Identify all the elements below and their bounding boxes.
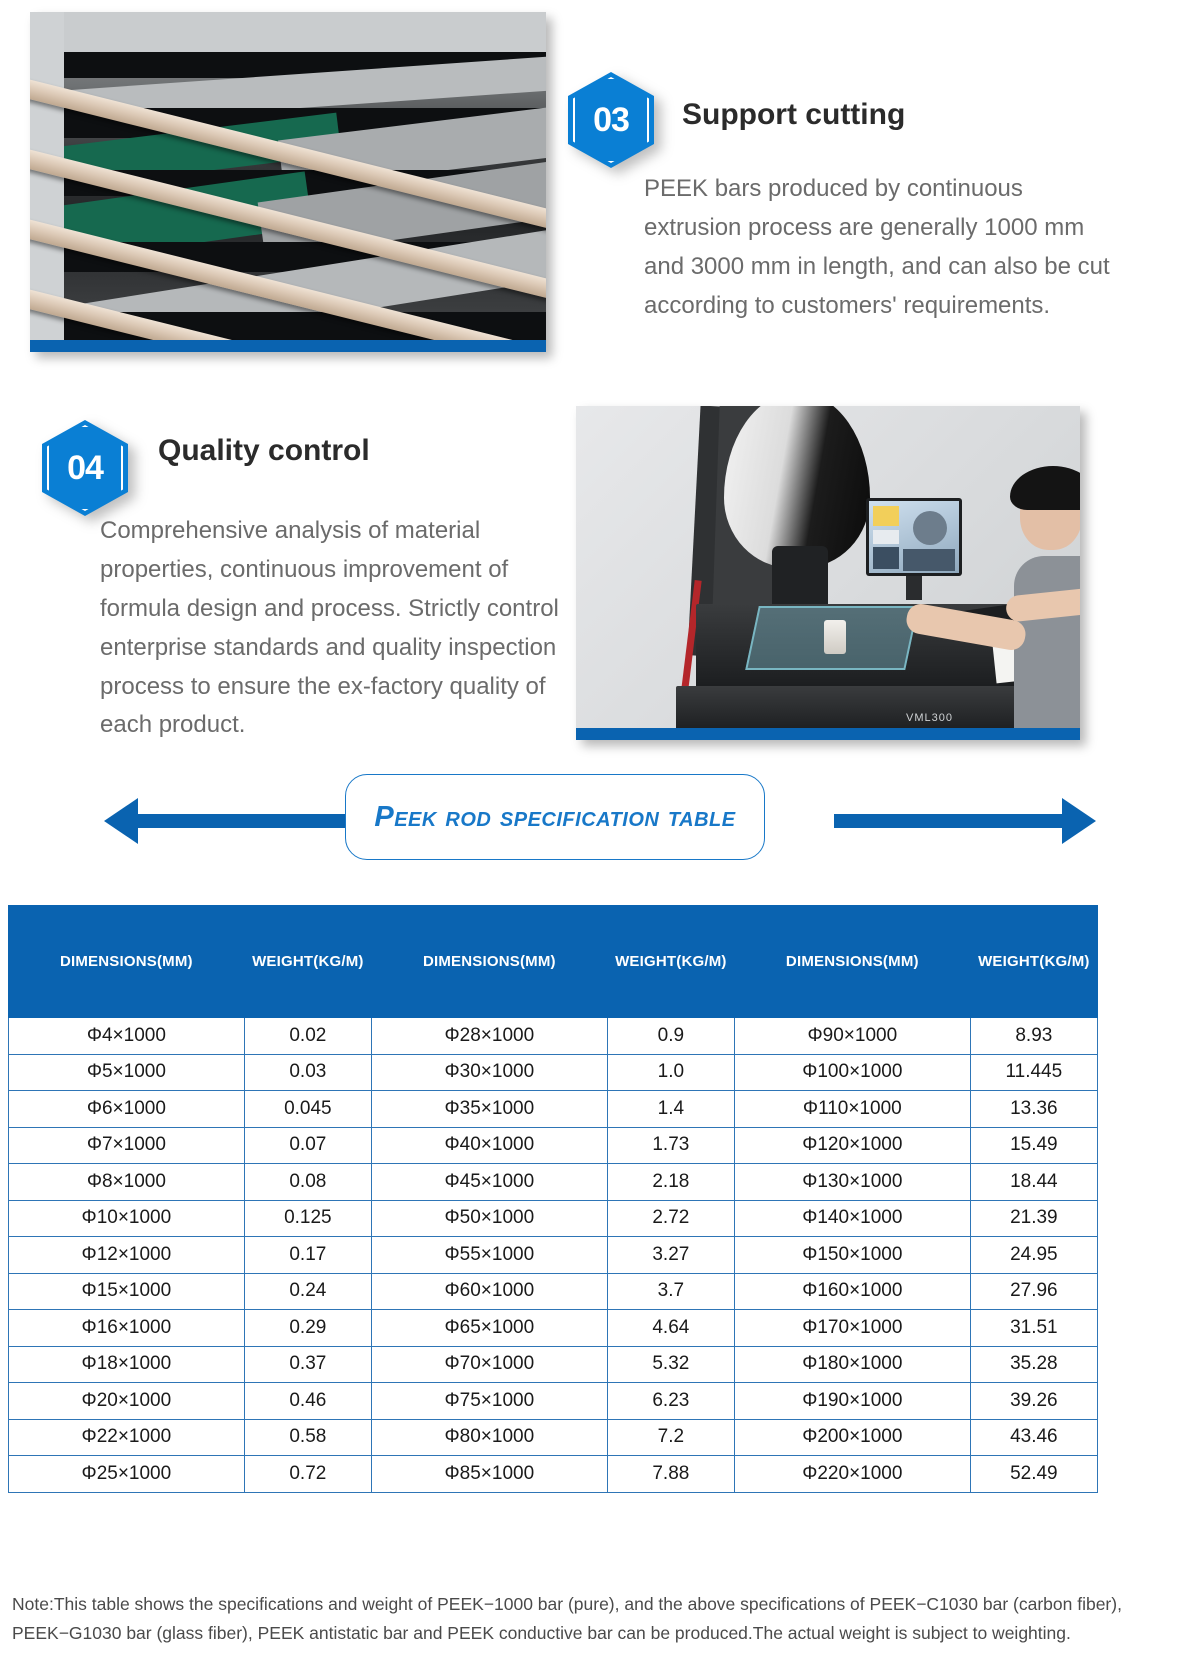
table-cell: Φ12×1000 [9,1237,245,1274]
banner-title: Peek rod specification table [374,801,735,834]
table-cell: Φ85×1000 [371,1456,607,1493]
table-cell: 0.37 [244,1346,371,1383]
column-header-dimensions-1: DIMENSIONS(MM) [9,906,245,1018]
arrow-shaft-right [834,814,1064,828]
table-cell: 31.51 [970,1310,1097,1347]
photo-peek-rods-cutting [30,12,546,352]
table-cell: Φ50×1000 [371,1200,607,1237]
table-cell: Φ170×1000 [734,1310,970,1347]
table-cell: 0.17 [244,1237,371,1274]
operator-body [1014,556,1080,740]
table-cell: 8.93 [970,1018,1097,1055]
table-cell: Φ80×1000 [371,1419,607,1456]
table-cell: Φ40×1000 [371,1127,607,1164]
table-cell: 1.73 [607,1127,734,1164]
table-cell: 27.96 [970,1273,1097,1310]
table-cell: 0.46 [244,1383,371,1420]
table-row: Φ4×10000.02Φ28×10000.9Φ90×10008.93 [9,1018,1098,1055]
sample-part [824,620,846,654]
step-body-support-cutting: PEEK bars produced by continuous extrusi… [644,170,1114,326]
table-cell: 0.58 [244,1419,371,1456]
table-row: Φ22×10000.58Φ80×10007.2Φ200×100043.46 [9,1419,1098,1456]
table-cell: Φ60×1000 [371,1273,607,1310]
table-row: Φ6×10000.045Φ35×10001.4Φ110×100013.36 [9,1091,1098,1128]
table-cell: 15.49 [970,1127,1097,1164]
step-title-support-cutting: Support cutting [682,98,905,132]
table-row: Φ20×10000.46Φ75×10006.23Φ190×100039.26 [9,1383,1098,1420]
banner-title-box: Peek rod specification table [345,774,765,860]
table-cell: Φ160×1000 [734,1273,970,1310]
table-cell: Φ10×1000 [9,1200,245,1237]
table-cell: 3.27 [607,1237,734,1274]
table-cell: Φ200×1000 [734,1419,970,1456]
table-cell: Φ150×1000 [734,1237,970,1274]
column-header-weight-3: WEIGHT(KG/M) [970,906,1097,1018]
machine-model-label: VML300 [906,712,953,724]
table-row: Φ5×10000.03Φ30×10001.0Φ100×100011.445 [9,1054,1098,1091]
table-cell: 21.39 [970,1200,1097,1237]
table-cell: 24.95 [970,1237,1097,1274]
column-header-weight-1: WEIGHT(KG/M) [244,906,371,1018]
table-cell: Φ5×1000 [9,1054,245,1091]
table-cell: Φ8×1000 [9,1164,245,1201]
table-row: Φ8×10000.08Φ45×10002.18Φ130×100018.44 [9,1164,1098,1201]
product-spec-page: 03 Support cutting PEEK bars produced by… [0,0,1200,1668]
monitor-stand [906,576,922,600]
table-cell: 7.2 [607,1419,734,1456]
table-cell: Φ55×1000 [371,1237,607,1274]
table-row: Φ7×10000.07Φ40×10001.73Φ120×100015.49 [9,1127,1098,1164]
table-cell: Φ45×1000 [371,1164,607,1201]
table-cell: Φ6×1000 [9,1091,245,1128]
table-cell: Φ30×1000 [371,1054,607,1091]
table-cell: Φ110×1000 [734,1091,970,1128]
column-header-weight-2: WEIGHT(KG/M) [607,906,734,1018]
table-cell: Φ20×1000 [9,1383,245,1420]
step-number-03: 03 [568,72,654,168]
table-cell: Φ25×1000 [9,1456,245,1493]
column-header-dimensions-2: DIMENSIONS(MM) [371,906,607,1018]
arrow-shaft-left [136,814,366,828]
table-cell: 52.49 [970,1456,1097,1493]
table-cell: 2.72 [607,1200,734,1237]
table-cell: 0.02 [244,1018,371,1055]
table-cell: 5.32 [607,1346,734,1383]
table-cell: Φ100×1000 [734,1054,970,1091]
table-cell: Φ90×1000 [734,1018,970,1055]
table-cell: Φ15×1000 [9,1273,245,1310]
computer-monitor [866,498,962,576]
table-cell: 11.445 [970,1054,1097,1091]
table-cell: 0.07 [244,1127,371,1164]
table-cell: Φ140×1000 [734,1200,970,1237]
table-cell: 0.9 [607,1018,734,1055]
table-cell: 3.7 [607,1273,734,1310]
table-cell: Φ16×1000 [9,1310,245,1347]
arrow-head-left-icon [104,798,138,844]
table-cell: 1.4 [607,1091,734,1128]
table-footnote: Note:This table shows the specifications… [12,1590,1192,1648]
arrow-head-right-icon [1062,798,1096,844]
photo-bottom-bar [30,340,546,352]
table-cell: 7.88 [607,1456,734,1493]
conveyor-machine [30,12,546,352]
table-cell: Φ120×1000 [734,1127,970,1164]
table-cell: 1.0 [607,1054,734,1091]
table-cell: 6.23 [607,1383,734,1420]
table-row: Φ16×10000.29Φ65×10004.64Φ170×100031.51 [9,1310,1098,1347]
step-number-badge-03: 03 [568,72,654,168]
table-cell: Φ18×1000 [9,1346,245,1383]
table-cell: Φ130×1000 [734,1164,970,1201]
table-cell: 4.64 [607,1310,734,1347]
table-cell: Φ65×1000 [371,1310,607,1347]
table-cell: Φ75×1000 [371,1383,607,1420]
table-cell: 0.24 [244,1273,371,1310]
table-cell: Φ180×1000 [734,1346,970,1383]
table-cell: Φ22×1000 [9,1419,245,1456]
step-number-04: 04 [42,420,128,516]
table-header-row: DIMENSIONS(MM) WEIGHT(KG/M) DIMENSIONS(M… [9,906,1098,1018]
table-cell: Φ220×1000 [734,1456,970,1493]
table-cell: 0.045 [244,1091,371,1128]
photo-quality-inspection: VML300 [576,406,1080,740]
table-row: Φ18×10000.37Φ70×10005.32Φ180×100035.28 [9,1346,1098,1383]
step-number-badge-04: 04 [42,420,128,516]
step-body-quality-control: Comprehensive analysis of material prope… [100,512,562,745]
table-row: Φ10×10000.125Φ50×10002.72Φ140×100021.39 [9,1200,1098,1237]
optical-head [724,406,870,568]
table-cell: Φ4×1000 [9,1018,245,1055]
table-cell: Φ190×1000 [734,1383,970,1420]
monitor-screen [869,501,959,573]
table-cell: 0.08 [244,1164,371,1201]
peek-rod-specification-table: DIMENSIONS(MM) WEIGHT(KG/M) DIMENSIONS(M… [8,905,1098,1493]
table-cell: Φ28×1000 [371,1018,607,1055]
step-title-quality-control: Quality control [158,434,370,468]
table-cell: 0.72 [244,1456,371,1493]
table-cell: 43.46 [970,1419,1097,1456]
table-row: Φ25×10000.72Φ85×10007.88Φ220×100052.49 [9,1456,1098,1493]
table-cell: 39.26 [970,1383,1097,1420]
table-cell: 18.44 [970,1164,1097,1201]
table-cell: 0.03 [244,1054,371,1091]
table-cell: 35.28 [970,1346,1097,1383]
photo-bottom-bar [576,728,1080,740]
table-cell: 0.125 [244,1200,371,1237]
table-cell: Φ35×1000 [371,1091,607,1128]
table-cell: Φ70×1000 [371,1346,607,1383]
table-cell: 0.29 [244,1310,371,1347]
column-header-dimensions-3: DIMENSIONS(MM) [734,906,970,1018]
table-cell: 13.36 [970,1091,1097,1128]
table-cell: Φ7×1000 [9,1127,245,1164]
table-row: Φ12×10000.17Φ55×10003.27Φ150×100024.95 [9,1237,1098,1274]
table-row: Φ15×10000.24Φ60×10003.7Φ160×100027.96 [9,1273,1098,1310]
table-cell: 2.18 [607,1164,734,1201]
table-body: Φ4×10000.02Φ28×10000.9Φ90×10008.93Φ5×100… [9,1018,1098,1493]
